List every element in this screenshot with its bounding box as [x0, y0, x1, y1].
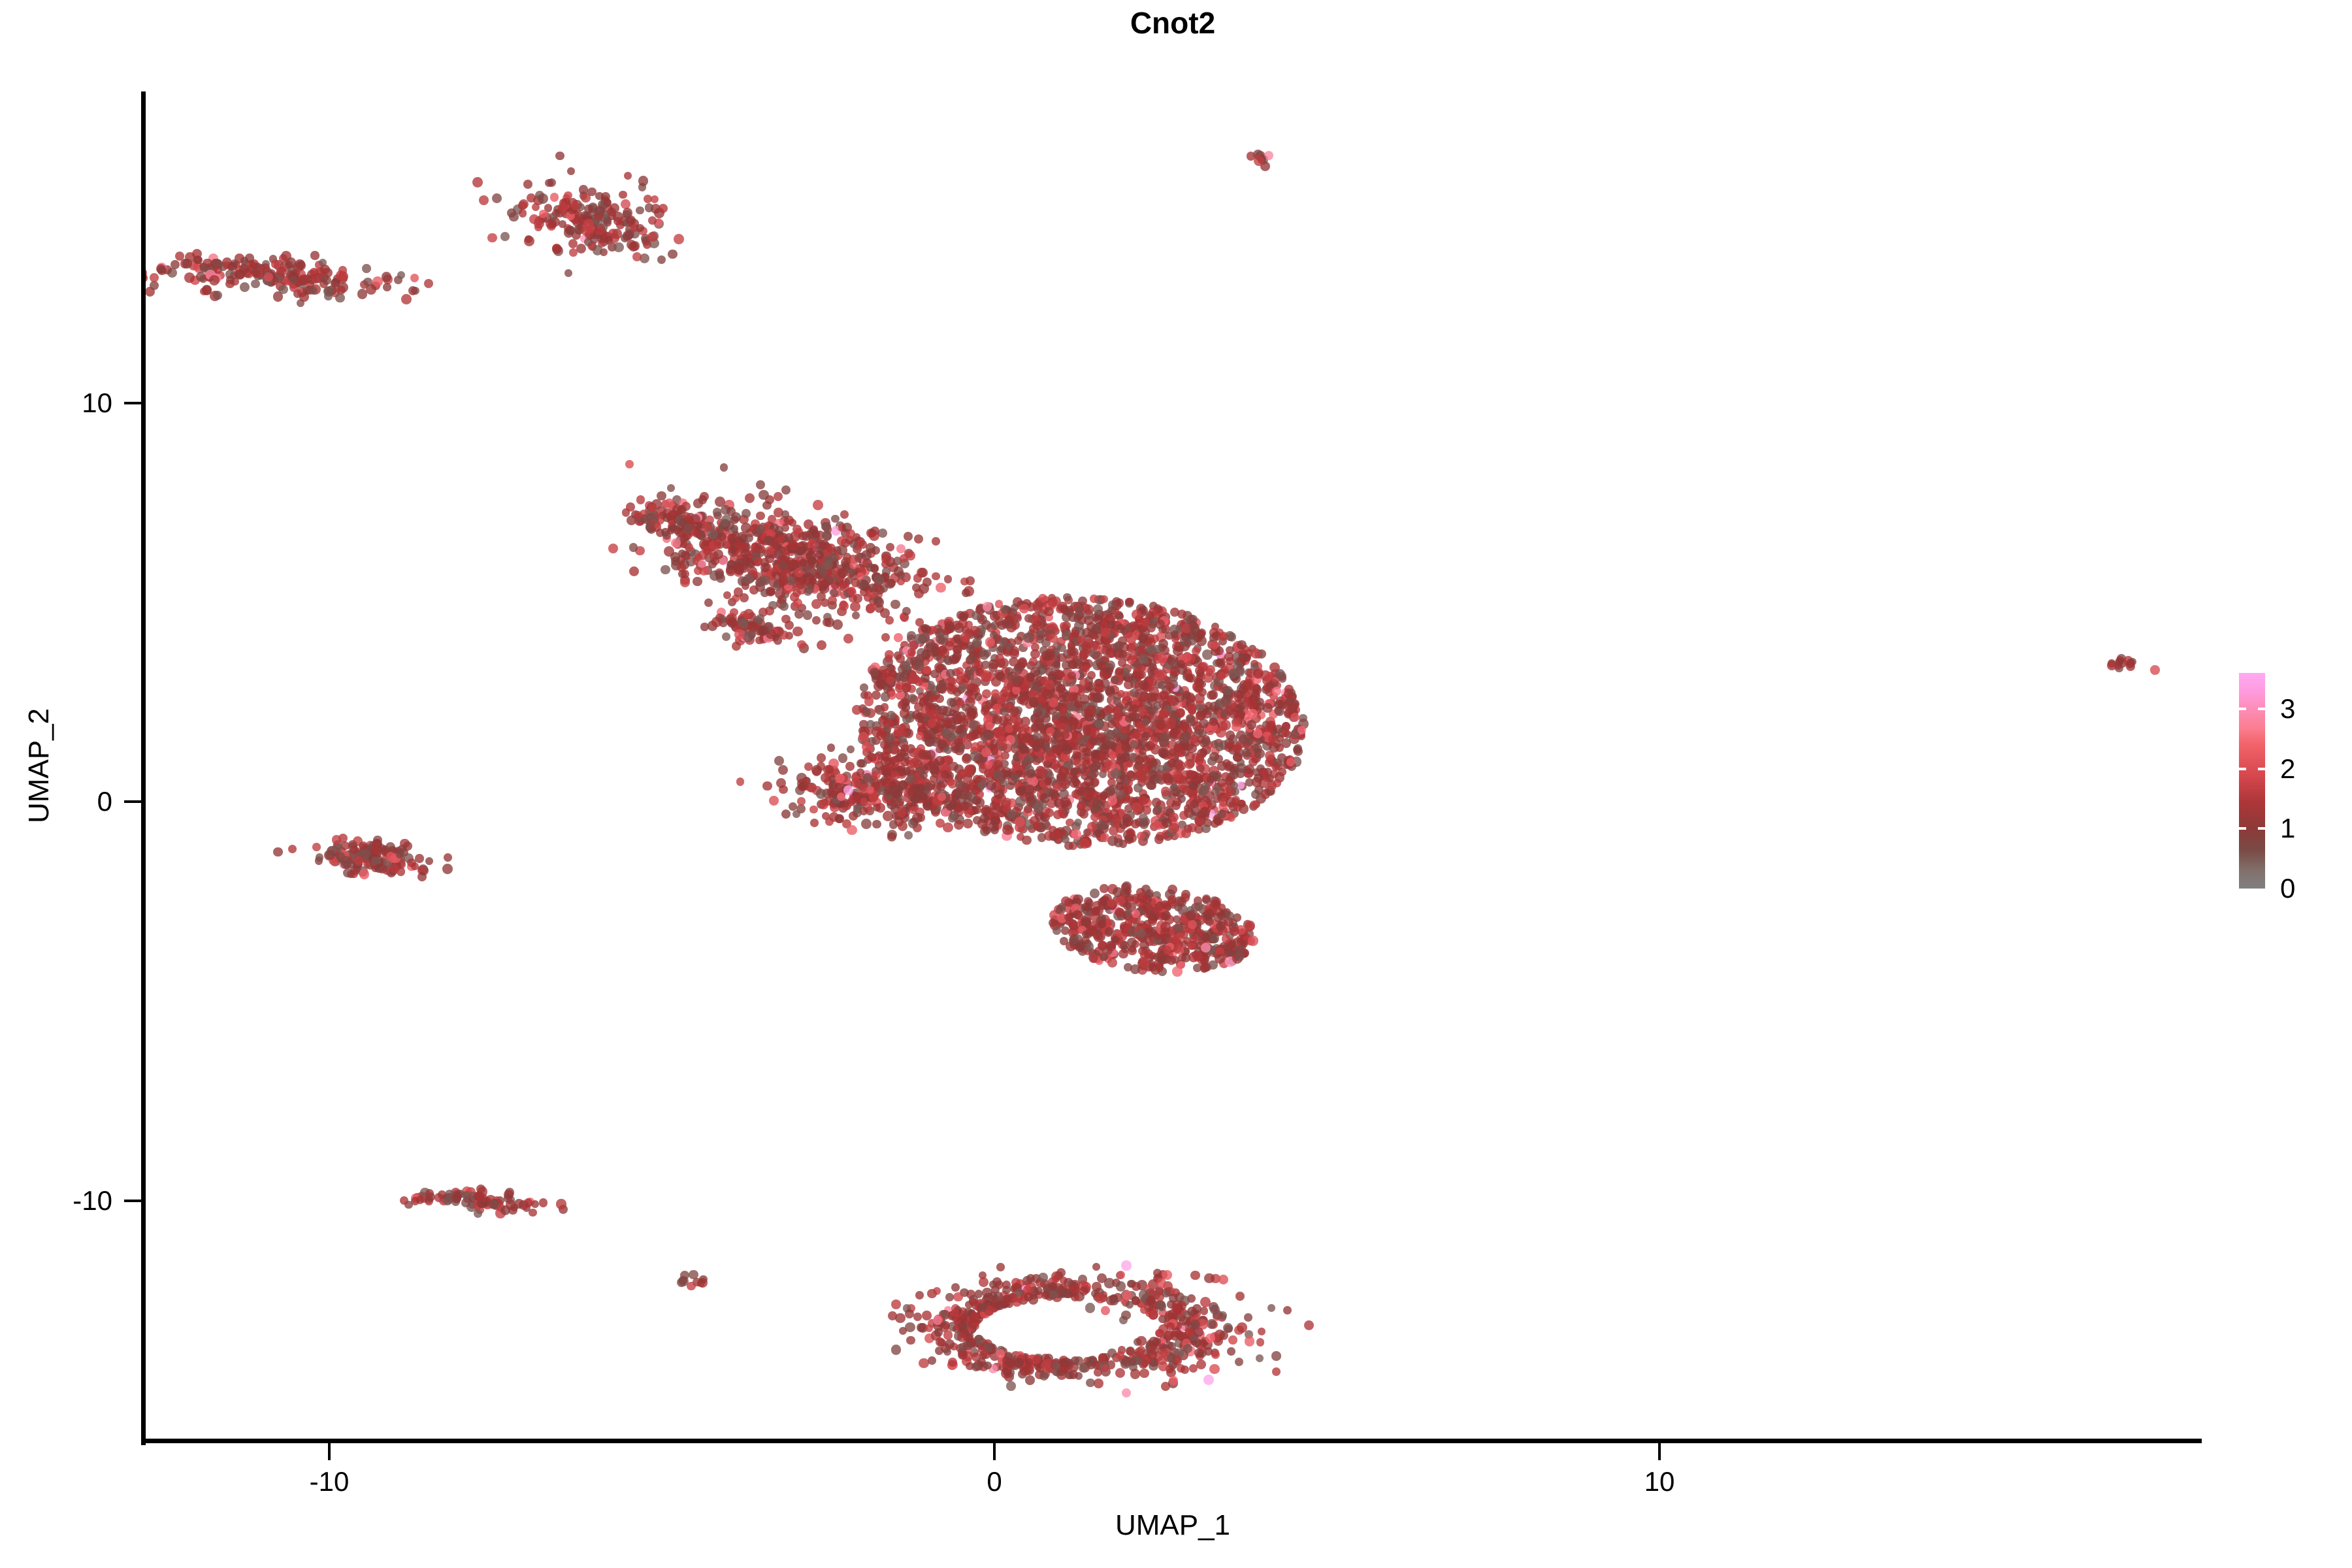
scatter-point — [679, 518, 687, 526]
scatter-point — [1137, 608, 1147, 617]
scatter-point — [1263, 774, 1271, 783]
scatter-point — [1090, 778, 1099, 787]
scatter-point — [808, 558, 819, 568]
scatter-point — [1082, 664, 1090, 672]
scatter-point — [1130, 689, 1139, 698]
scatter-point — [1175, 693, 1184, 702]
scatter-point — [1186, 674, 1194, 682]
scatter-point — [1184, 639, 1192, 647]
scatter-point — [1073, 713, 1083, 723]
scatter-point — [1249, 689, 1260, 699]
scatter-point — [657, 491, 666, 500]
scatter-point — [1010, 815, 1019, 824]
scatter-point — [988, 711, 998, 720]
scatter-point — [1110, 904, 1120, 914]
scatter-point — [1083, 828, 1091, 836]
scatter-point — [1058, 672, 1066, 679]
scatter-point — [839, 580, 847, 589]
scatter-point — [1170, 706, 1179, 714]
scatter-point — [1186, 714, 1194, 723]
scatter-point — [1250, 732, 1259, 740]
scatter-point — [1083, 766, 1092, 775]
scatter-point — [1073, 894, 1083, 904]
scatter-point — [1061, 807, 1070, 815]
scatter-point — [1173, 915, 1181, 923]
scatter-point — [931, 646, 941, 656]
scatter-point — [1037, 706, 1046, 714]
scatter-point — [741, 621, 751, 630]
scatter-point — [1159, 709, 1168, 718]
scatter-point — [738, 614, 746, 623]
scatter-point — [559, 206, 568, 215]
scatter-point — [808, 556, 817, 565]
scatter-point — [1152, 891, 1160, 899]
scatter-point — [1201, 943, 1211, 953]
scatter-point — [1244, 768, 1253, 777]
scatter-point — [1013, 666, 1022, 675]
scatter-point — [760, 568, 770, 578]
scatter-point — [1022, 681, 1030, 690]
scatter-point — [647, 507, 657, 517]
scatter-point — [1196, 764, 1205, 773]
scatter-point — [679, 498, 687, 507]
scatter-point — [1077, 687, 1085, 695]
scatter-point — [909, 806, 918, 815]
scatter-point — [338, 271, 348, 282]
scatter-point — [1107, 631, 1115, 640]
scatter-point — [810, 542, 820, 552]
scatter-point — [1274, 725, 1283, 734]
scatter-point — [1220, 710, 1230, 720]
scatter-point — [930, 685, 939, 694]
scatter-point — [1205, 725, 1215, 735]
scatter-point — [1241, 657, 1250, 665]
scatter-point — [1071, 629, 1079, 638]
scatter-point — [1079, 678, 1088, 687]
scatter-point — [1171, 752, 1179, 760]
scatter-point — [651, 499, 662, 510]
scatter-point — [1062, 776, 1071, 785]
scatter-point — [766, 522, 775, 531]
scatter-point — [1228, 952, 1236, 960]
scatter-point — [638, 183, 647, 191]
scatter-point — [1021, 730, 1029, 739]
scatter-point — [1226, 700, 1236, 710]
scatter-point — [958, 612, 968, 621]
scatter-point — [1081, 836, 1091, 847]
scatter-point — [938, 778, 948, 788]
scatter-point — [1073, 748, 1081, 757]
scatter-point — [941, 794, 951, 803]
scatter-point — [1075, 606, 1083, 614]
scatter-point — [1134, 926, 1143, 934]
scatter-point — [777, 548, 787, 559]
scatter-point — [1045, 649, 1054, 657]
scatter-point — [906, 760, 915, 768]
scatter-point — [357, 289, 367, 299]
scatter-point — [1048, 674, 1057, 683]
scatter-point — [1233, 949, 1243, 958]
scatter-point — [985, 760, 992, 768]
scatter-point — [728, 527, 738, 537]
scatter-point — [601, 192, 610, 201]
scatter-point — [1101, 926, 1109, 935]
scatter-point — [727, 561, 736, 570]
scatter-point — [539, 210, 547, 218]
scatter-point — [190, 276, 200, 286]
scatter-point — [204, 272, 214, 282]
scatter-point — [1290, 713, 1299, 722]
scatter-point — [775, 589, 785, 599]
scatter-point — [1037, 664, 1047, 674]
scatter-point — [1009, 770, 1019, 780]
scatter-point — [1026, 796, 1036, 806]
scatter-point — [1126, 902, 1135, 912]
scatter-point — [1049, 832, 1058, 841]
scatter-point — [1130, 679, 1140, 689]
scatter-point — [893, 767, 901, 775]
scatter-point — [847, 798, 855, 806]
scatter-point — [938, 630, 948, 640]
scatter-point — [1053, 675, 1062, 685]
scatter-point — [1162, 928, 1172, 938]
scatter-point — [1070, 934, 1079, 943]
scatter-point — [598, 231, 609, 241]
scatter-point — [1083, 609, 1093, 619]
scatter-point — [887, 691, 896, 700]
scatter-point — [1244, 717, 1253, 726]
scatter-point — [1086, 907, 1096, 917]
scatter-point — [994, 760, 1002, 768]
scatter-point — [1108, 817, 1118, 826]
scatter-point — [1255, 728, 1264, 738]
scatter-point — [1044, 777, 1052, 785]
scatter-point — [150, 281, 159, 290]
scatter-point — [1043, 759, 1052, 767]
scatter-point — [849, 595, 857, 603]
scatter-point — [1198, 788, 1207, 796]
scatter-point — [886, 664, 894, 672]
scatter-point — [1073, 934, 1082, 943]
scatter-point — [1119, 899, 1128, 907]
scatter-point — [1007, 809, 1016, 819]
scatter-point — [1156, 925, 1166, 935]
scatter-point — [1084, 708, 1092, 715]
scatter-point — [787, 582, 797, 592]
scatter-point — [975, 784, 984, 792]
scatter-point — [742, 556, 751, 565]
scatter-point — [738, 532, 747, 541]
scatter-point — [632, 252, 642, 261]
scatter-point — [1187, 619, 1196, 628]
scatter-point — [1009, 657, 1018, 666]
scatter-point — [1177, 733, 1184, 741]
scatter-point — [1207, 757, 1217, 766]
scatter-point — [857, 579, 866, 589]
scatter-point — [1048, 597, 1058, 607]
scatter-point — [1100, 743, 1110, 754]
scatter-point — [1092, 826, 1101, 836]
scatter-point — [1237, 800, 1246, 808]
scatter-point — [1215, 743, 1224, 751]
scatter-point — [1130, 913, 1141, 924]
scatter-point — [803, 562, 811, 570]
scatter-point — [267, 269, 276, 278]
scatter-point — [1222, 686, 1231, 695]
scatter-point — [1043, 725, 1052, 734]
scatter-point — [1001, 667, 1010, 676]
scatter-point — [817, 555, 826, 564]
scatter-point — [1098, 902, 1106, 910]
scatter-point — [1193, 964, 1201, 972]
scatter-point — [1050, 921, 1060, 931]
scatter-point — [1100, 668, 1109, 677]
scatter-point — [1103, 713, 1112, 722]
scatter-point — [1125, 600, 1134, 608]
scatter-point — [810, 584, 820, 594]
scatter-point — [1045, 613, 1053, 622]
scatter-point — [864, 792, 874, 801]
scatter-point — [1084, 791, 1094, 801]
scatter-point — [757, 531, 766, 540]
scatter-point — [734, 562, 743, 572]
scatter-point — [738, 628, 747, 636]
scatter-point — [998, 702, 1008, 711]
scatter-point — [1192, 681, 1203, 692]
scatter-point — [772, 627, 781, 637]
scatter-point — [1052, 714, 1061, 723]
scatter-point — [1126, 633, 1136, 644]
scatter-point — [972, 640, 981, 650]
scatter-point — [1144, 949, 1153, 958]
scatter-point — [923, 755, 932, 764]
scatter-point — [941, 764, 951, 774]
scatter-point — [1043, 760, 1052, 769]
scatter-point — [930, 703, 939, 713]
scatter-point — [1115, 810, 1126, 821]
scatter-point — [1053, 721, 1062, 730]
scatter-point — [1090, 769, 1099, 777]
scatter-point — [1085, 681, 1095, 691]
scatter-point — [1147, 623, 1156, 632]
scatter-point — [1021, 760, 1031, 770]
scatter-point — [1245, 921, 1255, 930]
scatter-point — [703, 547, 711, 555]
scatter-point — [640, 253, 649, 263]
scatter-point — [809, 551, 818, 559]
scatter-point — [1156, 710, 1165, 719]
scatter-point — [906, 744, 915, 753]
scatter-point — [956, 743, 965, 752]
scatter-point — [247, 261, 255, 269]
scatter-point — [839, 787, 847, 794]
scatter-point — [1023, 771, 1034, 781]
scatter-point — [1189, 789, 1198, 798]
scatter-point — [1231, 787, 1239, 796]
scatter-point — [859, 540, 868, 549]
scatter-point — [1239, 950, 1247, 958]
scatter-point — [742, 509, 751, 518]
scatter-point — [946, 732, 956, 743]
scatter-point — [889, 781, 897, 789]
scatter-point — [1001, 637, 1009, 645]
scatter-point — [889, 768, 896, 776]
scatter-point — [1041, 819, 1051, 829]
scatter-point — [604, 218, 612, 226]
scatter-point — [1041, 659, 1051, 669]
scatter-point — [1228, 734, 1238, 744]
scatter-point — [1192, 932, 1201, 941]
scatter-point — [977, 695, 988, 706]
scatter-point — [1122, 691, 1130, 700]
scatter-point — [752, 619, 760, 628]
scatter-point — [799, 781, 808, 791]
scatter-point — [1094, 693, 1104, 702]
scatter-point — [883, 745, 892, 755]
scatter-point — [1173, 770, 1183, 780]
scatter-point — [777, 567, 787, 578]
scatter-point — [803, 574, 813, 585]
scatter-point — [1184, 759, 1194, 769]
scatter-point — [1146, 693, 1156, 702]
scatter-point — [1178, 741, 1187, 750]
scatter-point — [1040, 734, 1050, 744]
scatter-point — [792, 627, 803, 637]
scatter-point — [736, 556, 745, 564]
scatter-point — [756, 619, 765, 628]
scatter-point — [1155, 671, 1165, 681]
scatter-point — [1179, 776, 1188, 785]
scatter-point — [1088, 926, 1098, 936]
scatter-point — [1188, 636, 1197, 645]
scatter-point — [629, 543, 638, 551]
scatter-point — [837, 787, 847, 797]
scatter-point — [1299, 714, 1307, 723]
scatter-point — [647, 525, 656, 534]
scatter-point — [856, 782, 864, 790]
scatter-point — [1059, 706, 1068, 715]
scatter-point — [918, 749, 928, 759]
scatter-point — [781, 545, 791, 554]
scatter-point — [1174, 745, 1183, 754]
scatter-point — [1064, 596, 1073, 604]
scatter-point — [1105, 927, 1113, 936]
scatter-point — [892, 789, 902, 798]
scatter-point — [1209, 949, 1218, 957]
scatter-point — [862, 770, 872, 780]
scatter-point — [719, 521, 728, 531]
scatter-point — [1039, 785, 1049, 795]
scatter-point — [670, 511, 678, 519]
scatter-point — [1007, 776, 1017, 785]
scatter-point — [878, 716, 887, 725]
scatter-point — [1281, 738, 1291, 748]
scatter-point — [1141, 683, 1150, 692]
scatter-point — [890, 791, 901, 801]
scatter-point — [799, 559, 807, 566]
scatter-point — [917, 725, 927, 735]
scatter-point — [1209, 633, 1218, 642]
scatter-point — [1090, 632, 1098, 640]
scatter-point — [1070, 731, 1078, 739]
scatter-point — [881, 703, 889, 711]
scatter-point — [479, 195, 489, 205]
scatter-point — [338, 266, 347, 274]
scatter-point — [823, 765, 834, 776]
scatter-point — [1166, 694, 1175, 703]
scatter-point — [816, 547, 825, 555]
scatter-point — [1079, 743, 1088, 753]
scatter-point — [1218, 683, 1229, 694]
scatter-point — [1139, 820, 1149, 829]
scatter-point — [1174, 657, 1184, 667]
scatter-point — [1277, 700, 1287, 710]
scatter-point — [913, 747, 923, 757]
scatter-point — [1211, 647, 1220, 656]
scatter-point — [923, 782, 931, 791]
scatter-point — [1016, 787, 1025, 796]
scatter-point — [549, 217, 560, 227]
scatter-point — [1032, 732, 1042, 743]
scatter-point — [1043, 654, 1052, 662]
scatter-point — [853, 796, 862, 805]
scatter-point — [1107, 720, 1116, 728]
scatter-point — [919, 583, 929, 594]
scatter-point — [1077, 616, 1086, 625]
scatter-point — [1099, 820, 1109, 830]
scatter-point — [1037, 833, 1046, 841]
scatter-point — [871, 783, 880, 792]
scatter-point — [1095, 794, 1105, 805]
scatter-point — [1233, 641, 1243, 651]
scatter-point — [1139, 903, 1147, 911]
scatter-point — [1168, 898, 1177, 907]
scatter-point — [838, 568, 848, 578]
scatter-point — [1231, 767, 1239, 776]
scatter-point — [1165, 663, 1175, 673]
scatter-point — [255, 269, 265, 279]
scatter-point — [1037, 790, 1047, 800]
scatter-point — [800, 568, 809, 577]
scatter-point — [841, 538, 850, 547]
scatter-point — [1139, 627, 1149, 636]
scatter-point — [1015, 823, 1025, 833]
scatter-point — [1105, 950, 1116, 960]
scatter-point — [910, 784, 920, 794]
scatter-point — [977, 613, 985, 621]
scatter-point — [979, 755, 987, 763]
scatter-point — [804, 574, 813, 583]
scatter-point — [1107, 796, 1117, 806]
scatter-point — [680, 534, 688, 542]
scatter-point — [1142, 718, 1150, 726]
scatter-point — [830, 589, 838, 597]
scatter-point — [1119, 642, 1129, 653]
scatter-point — [995, 600, 1004, 608]
scatter-point — [1034, 719, 1042, 727]
scatter-point — [1196, 630, 1204, 638]
scatter-point — [324, 292, 333, 301]
scatter-point — [1086, 771, 1096, 780]
scatter-point — [1256, 725, 1265, 734]
scatter-point — [962, 753, 971, 762]
scatter-point — [741, 613, 749, 622]
scatter-point — [1145, 766, 1154, 775]
scatter-point — [1207, 691, 1216, 700]
scatter-point — [886, 676, 894, 685]
scatter-point — [1207, 800, 1217, 809]
scatter-point — [945, 638, 955, 647]
